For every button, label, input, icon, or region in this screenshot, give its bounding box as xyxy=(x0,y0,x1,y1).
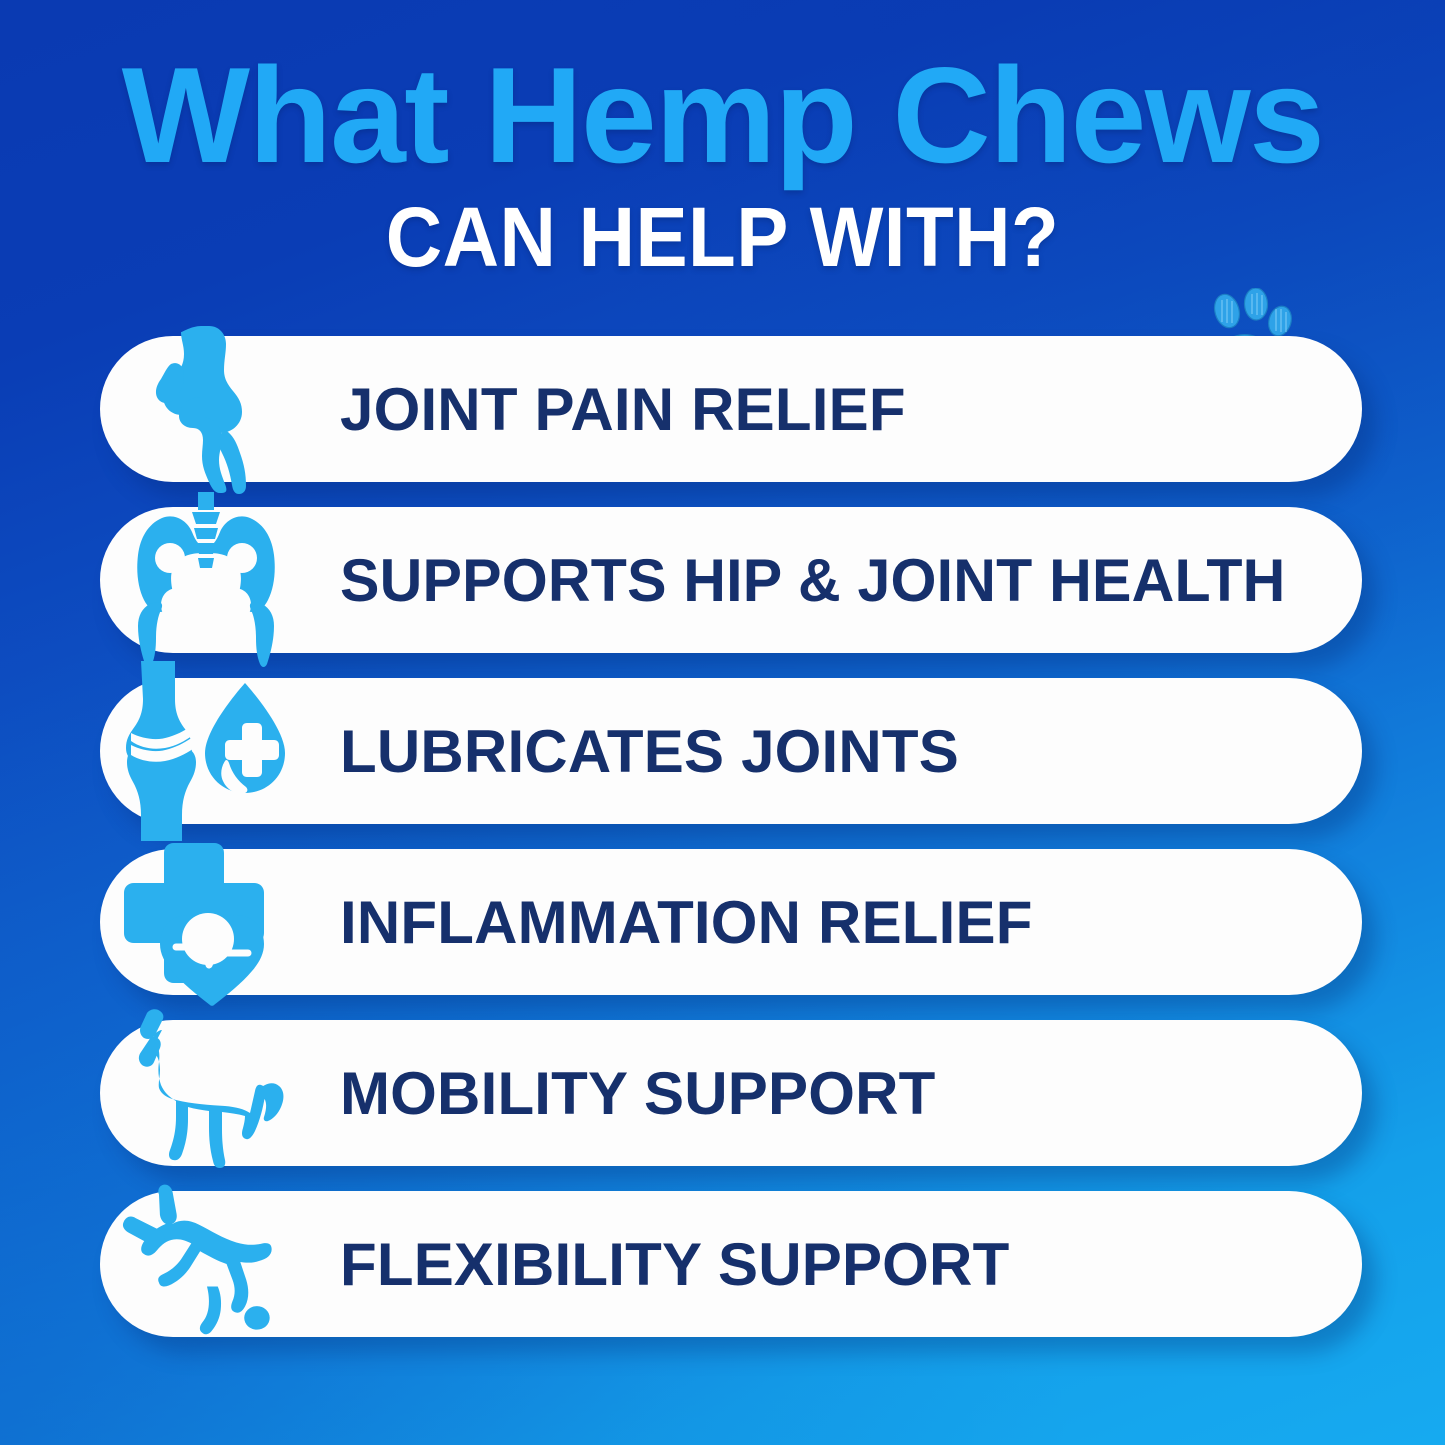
benefit-label: SUPPORTS HIP & JOINT HEALTH xyxy=(340,507,1286,653)
benefit-label: LUBRICATES JOINTS xyxy=(340,678,959,824)
benefit-label: FLEXIBILITY SUPPORT xyxy=(340,1191,1009,1337)
list-item[interactable]: FLEXIBILITY SUPPORT xyxy=(0,1191,1445,1337)
list-item[interactable]: JOINT PAIN RELIEF xyxy=(0,336,1445,482)
benefit-label: INFLAMMATION RELIEF xyxy=(340,849,1033,995)
page-title: What Hemp Chews xyxy=(0,46,1445,185)
list-item[interactable]: SUPPORTS HIP & JOINT HEALTH xyxy=(0,507,1445,653)
standing-dog-with-bone-icon xyxy=(108,1006,304,1180)
bone-water-droplet-icon xyxy=(108,664,304,838)
benefit-list: JOINT PAIN RELIEF xyxy=(0,336,1445,1362)
headline-block: What Hemp Chews CAN HELP WITH? xyxy=(0,46,1445,279)
list-item[interactable]: INFLAMMATION RELIEF xyxy=(0,849,1445,995)
benefit-label: JOINT PAIN RELIEF xyxy=(340,336,906,482)
infographic-poster: What Hemp Chews CAN HELP WITH? xyxy=(0,0,1445,1445)
medical-cross-heart-pulse-icon xyxy=(108,835,304,1009)
list-item[interactable]: LUBRICATES JOINTS xyxy=(0,678,1445,824)
hip-pelvis-bone-icon xyxy=(108,493,304,667)
knee-joint-bone-icon xyxy=(108,322,304,496)
page-subtitle: CAN HELP WITH? xyxy=(51,195,1395,279)
list-item[interactable]: MOBILITY SUPPORT xyxy=(0,1020,1445,1166)
benefit-label: MOBILITY SUPPORT xyxy=(340,1020,935,1166)
leaping-dog-with-ball-icon xyxy=(108,1177,304,1351)
